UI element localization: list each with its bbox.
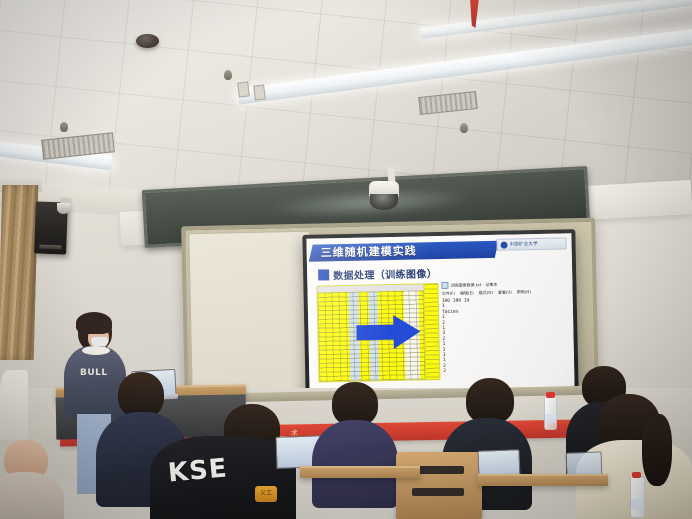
jacket-text: KSE: [167, 453, 229, 488]
menu-format[interactable]: 格式(O): [479, 290, 493, 296]
spreadsheet-output-column: [423, 283, 440, 380]
presentation-display[interactable]: 三维随机建模实践 中国矿业大学 数据处理（训练图像）: [302, 229, 578, 398]
classroom-photo: 三维随机建模实践 中国矿业大学 数据处理（训练图像）: [0, 0, 692, 519]
smoke-detector-icon: [136, 34, 159, 48]
bottle-label: [545, 414, 556, 422]
slide-subtitle: 数据处理（训练图像）: [333, 265, 437, 282]
sprinkler-head-icon: [60, 122, 68, 132]
student-torso: [312, 420, 398, 508]
menu-edit[interactable]: 编辑(E): [460, 290, 474, 296]
bottle-cap: [632, 472, 641, 478]
foreground-object: [0, 370, 28, 440]
university-logo: 中国矿业大学: [496, 237, 566, 250]
university-logo-text: 中国矿业大学: [510, 241, 538, 248]
display-screen[interactable]: 三维随机建模实践 中国矿业大学 数据处理（训练图像）: [306, 233, 574, 394]
university-crest-icon: [500, 241, 507, 248]
armband: 义工: [255, 486, 277, 502]
menu-file[interactable]: 文件(F): [442, 291, 456, 297]
student-bottom-left: [0, 440, 64, 519]
student-torso: [0, 472, 64, 519]
notepad-window[interactable]: 训练图像数据.txt - 记事本 文件(F) 编辑(E) 格式(O) 查看(V)…: [441, 280, 545, 378]
bottle-cap: [546, 392, 555, 398]
water-bottle[interactable]: [544, 396, 557, 430]
sprinkler-head-icon: [224, 70, 232, 80]
bottle-label: [631, 499, 644, 509]
student-row1-center: [312, 382, 398, 502]
student-long-hair: [642, 414, 672, 486]
wall-camera-icon: [57, 203, 70, 214]
notepad-line: 2: [443, 367, 545, 375]
notepad-titlebar: 训练图像数据.txt - 记事本: [441, 280, 543, 289]
window-curtain: [0, 185, 38, 360]
student-desk: [300, 466, 420, 478]
chair-slot: [412, 488, 464, 496]
presenter-fringe: [76, 312, 112, 334]
output-gridlines: [424, 284, 439, 379]
notepad-menubar[interactable]: 文件(F) 编辑(E) 格式(O) 查看(V) 帮助(H): [442, 289, 544, 297]
student-desk: [478, 474, 608, 486]
notepad-title-text: 训练图像数据.txt - 记事本: [450, 281, 497, 288]
menu-view[interactable]: 查看(V): [498, 290, 512, 296]
light-mount: [237, 81, 250, 97]
speaker-badge: [39, 245, 61, 250]
sprinkler-head-icon: [460, 123, 468, 133]
chair-back: [396, 452, 482, 519]
ptz-camera-dome: [370, 194, 398, 210]
slide-canvas: 三维随机建模实践 中国矿业大学 数据处理（训练图像）: [306, 233, 574, 394]
bullet-square-icon: [318, 269, 329, 280]
notepad-content[interactable]: 100 100 141facies12132123122: [442, 297, 546, 375]
whiteboard-panel[interactable]: [188, 231, 313, 398]
water-bottle[interactable]: [630, 476, 645, 518]
light-mount: [253, 84, 266, 100]
presenter-collar: [82, 346, 110, 355]
notepad-icon: [441, 282, 448, 289]
menu-help[interactable]: 帮助(H): [517, 289, 531, 295]
